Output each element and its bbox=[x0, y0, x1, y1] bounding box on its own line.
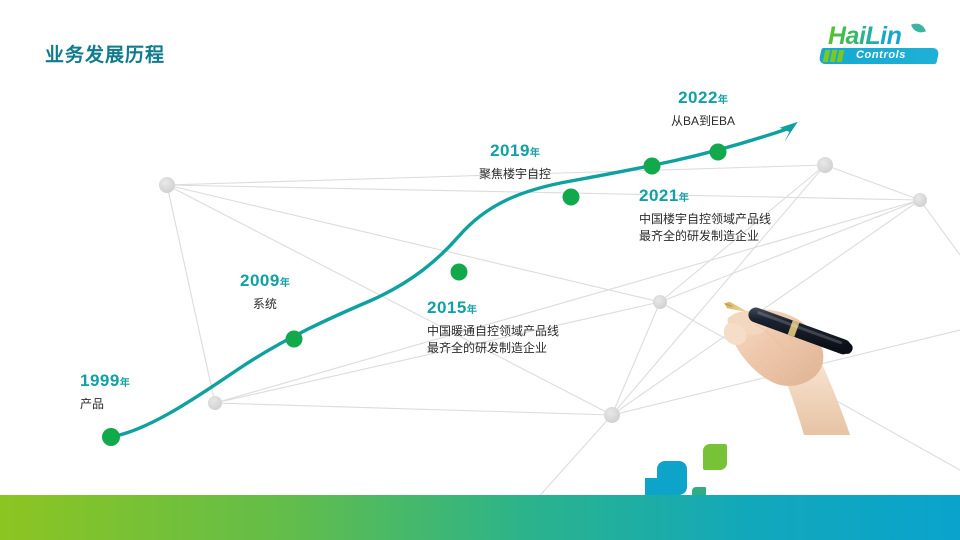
milestone-dot-2019 bbox=[563, 189, 580, 206]
page-title: 业务发展历程 bbox=[45, 40, 165, 67]
hand-with-pen-image bbox=[700, 285, 885, 445]
milestone-desc-2019: 聚焦楼宇自控 bbox=[479, 166, 551, 183]
desc-line: 聚焦楼宇自控 bbox=[479, 166, 551, 183]
milestone-desc-2021: 中国楼宇自控领域产品线 最齐全的研发制造企业 bbox=[639, 211, 771, 246]
milestone-label-2015: 2015年 中国暖通自控领域产品线 最齐全的研发制造企业 bbox=[427, 298, 559, 358]
decoration-step-shape bbox=[645, 461, 687, 495]
desc-line: 最齐全的研发制造企业 bbox=[639, 228, 771, 245]
year-suffix: 年 bbox=[530, 148, 540, 159]
milestone-label-2021: 2021年 中国楼宇自控领域产品线 最齐全的研发制造企业 bbox=[639, 186, 771, 246]
year-suffix: 年 bbox=[679, 193, 689, 204]
milestone-year-2022: 2022年 bbox=[671, 88, 735, 108]
milestone-label-2019: 2019年 聚焦楼宇自控 bbox=[479, 141, 551, 183]
year-suffix: 年 bbox=[120, 378, 130, 389]
milestone-label-1999: 1999年 产品 bbox=[80, 371, 130, 413]
leaf-icon bbox=[911, 22, 926, 34]
year-value: 2021 bbox=[639, 186, 679, 205]
milestone-label-2022: 2022年 从BA到EBA bbox=[671, 88, 735, 130]
logo-wordmark: HaiLin bbox=[828, 22, 901, 51]
desc-line: 产品 bbox=[80, 396, 130, 413]
year-suffix: 年 bbox=[718, 95, 728, 106]
milestone-dot-2022 bbox=[710, 144, 727, 161]
year-value: 2015 bbox=[427, 298, 467, 317]
milestone-year-2009: 2009年 bbox=[240, 271, 290, 291]
milestone-year-2021: 2021年 bbox=[639, 186, 771, 206]
milestone-dot-1999 bbox=[102, 428, 120, 446]
decoration-square-green bbox=[703, 444, 727, 470]
milestone-year-2019: 2019年 bbox=[479, 141, 551, 161]
growth-curve bbox=[111, 128, 790, 437]
slide-root: 业务发展历程 HaiLin Controls 1999年 产品 2009年 系统… bbox=[0, 0, 960, 540]
year-value: 2009 bbox=[240, 271, 280, 290]
year-value: 2022 bbox=[678, 88, 718, 107]
desc-line: 中国楼宇自控领域产品线 bbox=[639, 211, 771, 228]
logo-bars-icon bbox=[823, 50, 852, 62]
milestone-dot-2009 bbox=[286, 331, 303, 348]
desc-line: 从BA到EBA bbox=[671, 113, 735, 130]
desc-line: 中国暖通自控领域产品线 bbox=[427, 323, 559, 340]
milestone-desc-1999: 产品 bbox=[80, 396, 130, 413]
desc-line: 最齐全的研发制造企业 bbox=[427, 340, 559, 357]
year-suffix: 年 bbox=[467, 305, 477, 316]
milestone-year-2015: 2015年 bbox=[427, 298, 559, 318]
milestone-desc-2015: 中国暖通自控领域产品线 最齐全的研发制造企业 bbox=[427, 323, 559, 358]
desc-line: 系统 bbox=[240, 296, 290, 313]
brand-logo: HaiLin Controls bbox=[820, 22, 942, 68]
year-suffix: 年 bbox=[280, 278, 290, 289]
milestone-desc-2009: 系统 bbox=[240, 296, 290, 313]
year-value: 1999 bbox=[80, 371, 120, 390]
footer-gradient-band bbox=[0, 495, 960, 540]
year-value: 2019 bbox=[490, 141, 530, 160]
milestone-dot-2021 bbox=[644, 158, 661, 175]
milestone-year-1999: 1999年 bbox=[80, 371, 130, 391]
logo-subtitle: Controls bbox=[856, 49, 906, 61]
milestone-label-2009: 2009年 系统 bbox=[240, 271, 290, 313]
milestone-desc-2022: 从BA到EBA bbox=[671, 113, 735, 130]
milestone-dot-2015 bbox=[451, 264, 468, 281]
timeline-graphics bbox=[0, 0, 960, 540]
